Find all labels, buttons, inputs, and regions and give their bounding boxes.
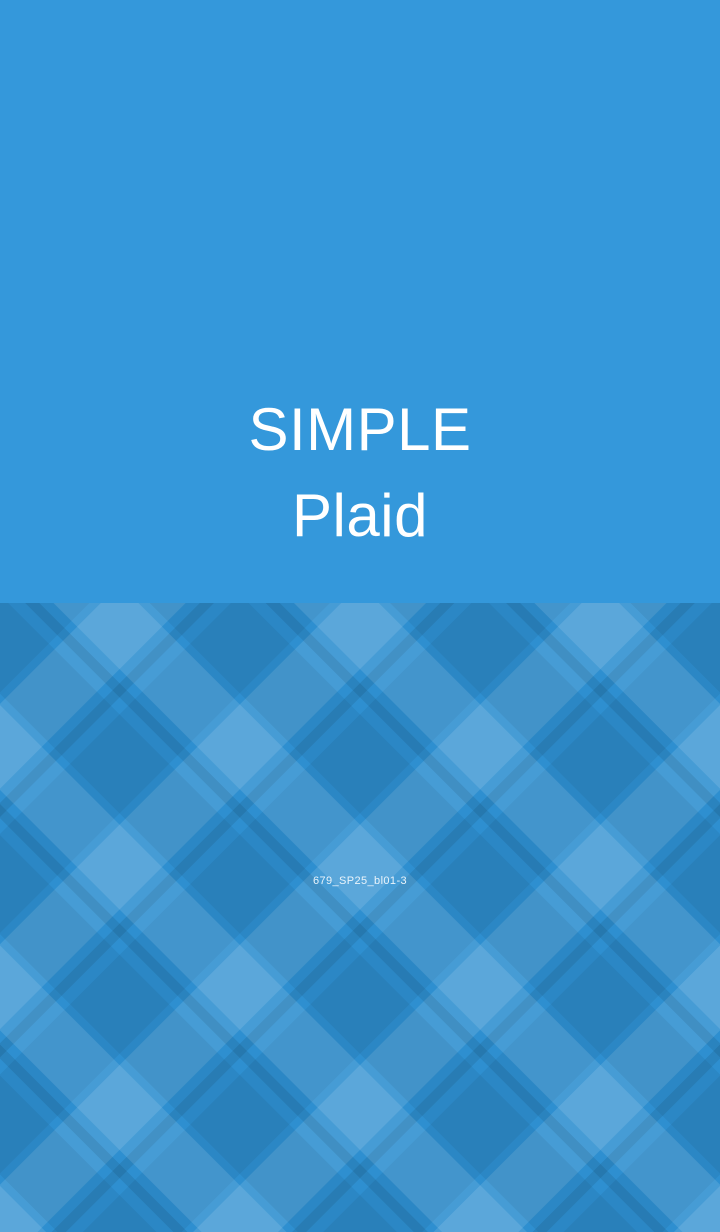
product-code-label: 679_SP25_bl01-3 bbox=[0, 875, 720, 887]
theme-title-primary: SIMPLE bbox=[0, 400, 720, 460]
plaid-background-panel bbox=[0, 603, 720, 1232]
plaid-weave-canvas bbox=[0, 603, 720, 1232]
theme-title-block: SIMPLE Plaid bbox=[0, 400, 720, 546]
plaid-weft-stripes bbox=[0, 603, 720, 1232]
theme-title-secondary: Plaid bbox=[0, 486, 720, 546]
theme-preview-screen: SIMPLE Plaid 679_SP25_bl01-3 bbox=[0, 0, 720, 1232]
